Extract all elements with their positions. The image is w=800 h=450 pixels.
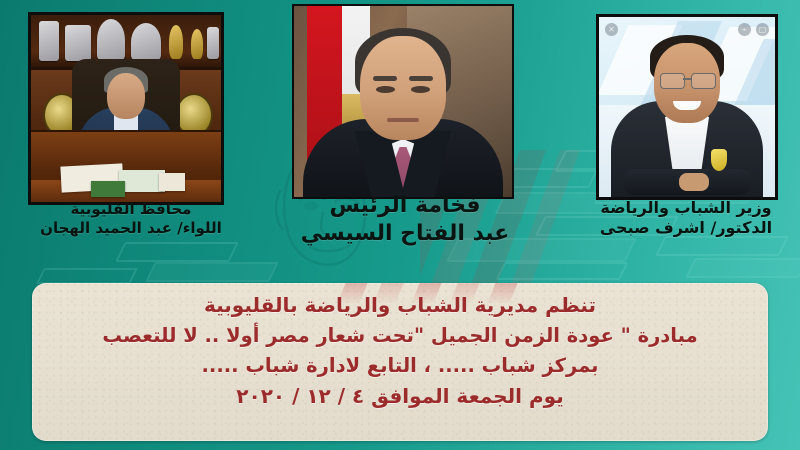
caption-governor-name: اللواء/ عبد الحميد الهجان bbox=[6, 219, 256, 238]
caption-governor-title: محافظ القليوبية bbox=[6, 200, 256, 219]
announcement-panel: تنظم مديرية الشباب والرياضة بالقليوبية م… bbox=[32, 283, 768, 441]
bookmark-icon[interactable]: ▢ bbox=[756, 23, 769, 36]
photo-minister: ✕ ⌁ ▢ bbox=[596, 14, 778, 200]
announcement-poster: ✕ ⌁ ▢ محافظ القليوبية اللواء/ عبد الحميد… bbox=[0, 0, 800, 450]
photo-governor bbox=[28, 12, 224, 205]
announcement-line-3: بمركز شباب ..... ، التابع لادارة شباب ..… bbox=[46, 351, 754, 381]
photo-president bbox=[292, 4, 514, 199]
caption-minister-title: وزير الشباب والرياضة bbox=[572, 198, 800, 218]
caption-minister: وزير الشباب والرياضة الدكتور/ اشرف صبحى bbox=[572, 198, 800, 239]
announcement-line-2: مبادرة " عودة الزمن الجميل "تحت شعار مصر… bbox=[46, 321, 754, 351]
caption-governor: محافظ القليوبية اللواء/ عبد الحميد الهجا… bbox=[6, 200, 256, 238]
caption-president-name: عبد الفتاح السيسي bbox=[255, 220, 555, 248]
announcement-text: تنظم مديرية الشباب والرياضة بالقليوبية م… bbox=[32, 287, 768, 412]
close-icon[interactable]: ✕ bbox=[605, 23, 618, 36]
caption-president: فخامة الرئيس عبد الفتاح السيسي bbox=[255, 192, 555, 248]
announcement-line-1: تنظم مديرية الشباب والرياضة بالقليوبية bbox=[46, 290, 754, 321]
share-icon[interactable]: ⌁ bbox=[738, 23, 751, 36]
caption-minister-name: الدكتور/ اشرف صبحى bbox=[572, 218, 800, 238]
caption-president-title: فخامة الرئيس bbox=[255, 192, 555, 220]
announcement-line-4: يوم الجمعة الموافق ٤ / ١٢ / ٢٠٢٠ bbox=[46, 381, 754, 412]
